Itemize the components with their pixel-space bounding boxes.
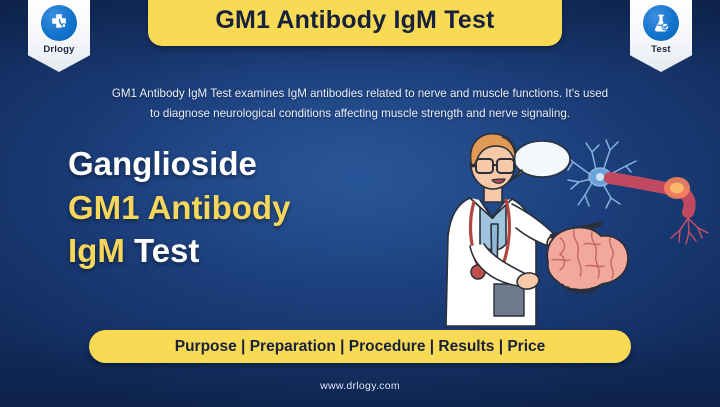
description-block: GM1 Antibody IgM Test examines IgM antib… [50,84,670,125]
speech-bubble-icon [510,141,570,181]
topics-bar: Purpose | Preparation | Procedure | Resu… [89,330,631,363]
headline-line-3-plain: Test [134,232,199,269]
title-banner: GM1 Antibody IgM Test [148,0,562,46]
doctor-brain-illustration [440,126,720,331]
headline-line-3-highlight: IgM [68,232,125,269]
brain-icon [547,227,628,295]
headline-line-3: IgM Test [68,229,290,273]
page-title: GM1 Antibody IgM Test [215,6,494,35]
test-badge: Test [630,0,692,72]
brand-badge-drlogy: Drlogy [28,0,90,72]
test-badge-label: Test [651,44,671,55]
description-line-1: GM1 Antibody IgM Test examines IgM antib… [50,84,670,104]
flask-test-icon [643,5,679,41]
brand-badge-label: Drlogy [43,44,74,55]
description-line-2: to diagnose neurological conditions affe… [50,104,670,124]
headline-block: Ganglioside GM1 Antibody IgM Test [68,142,290,273]
topics-bar-label: Purpose | Preparation | Procedure | Resu… [175,338,546,356]
headline-line-1: Ganglioside [68,142,290,186]
axon-myelin [610,177,708,244]
medical-cross-stethoscope-icon [41,5,77,41]
neuron-icon [564,140,636,208]
headline-line-2: GM1 Antibody [68,186,290,230]
poster-canvas: GM1 Antibody IgM Test Drlogy Test GM1 An… [0,0,720,407]
footer-url: www.drlogy.com [0,380,720,392]
